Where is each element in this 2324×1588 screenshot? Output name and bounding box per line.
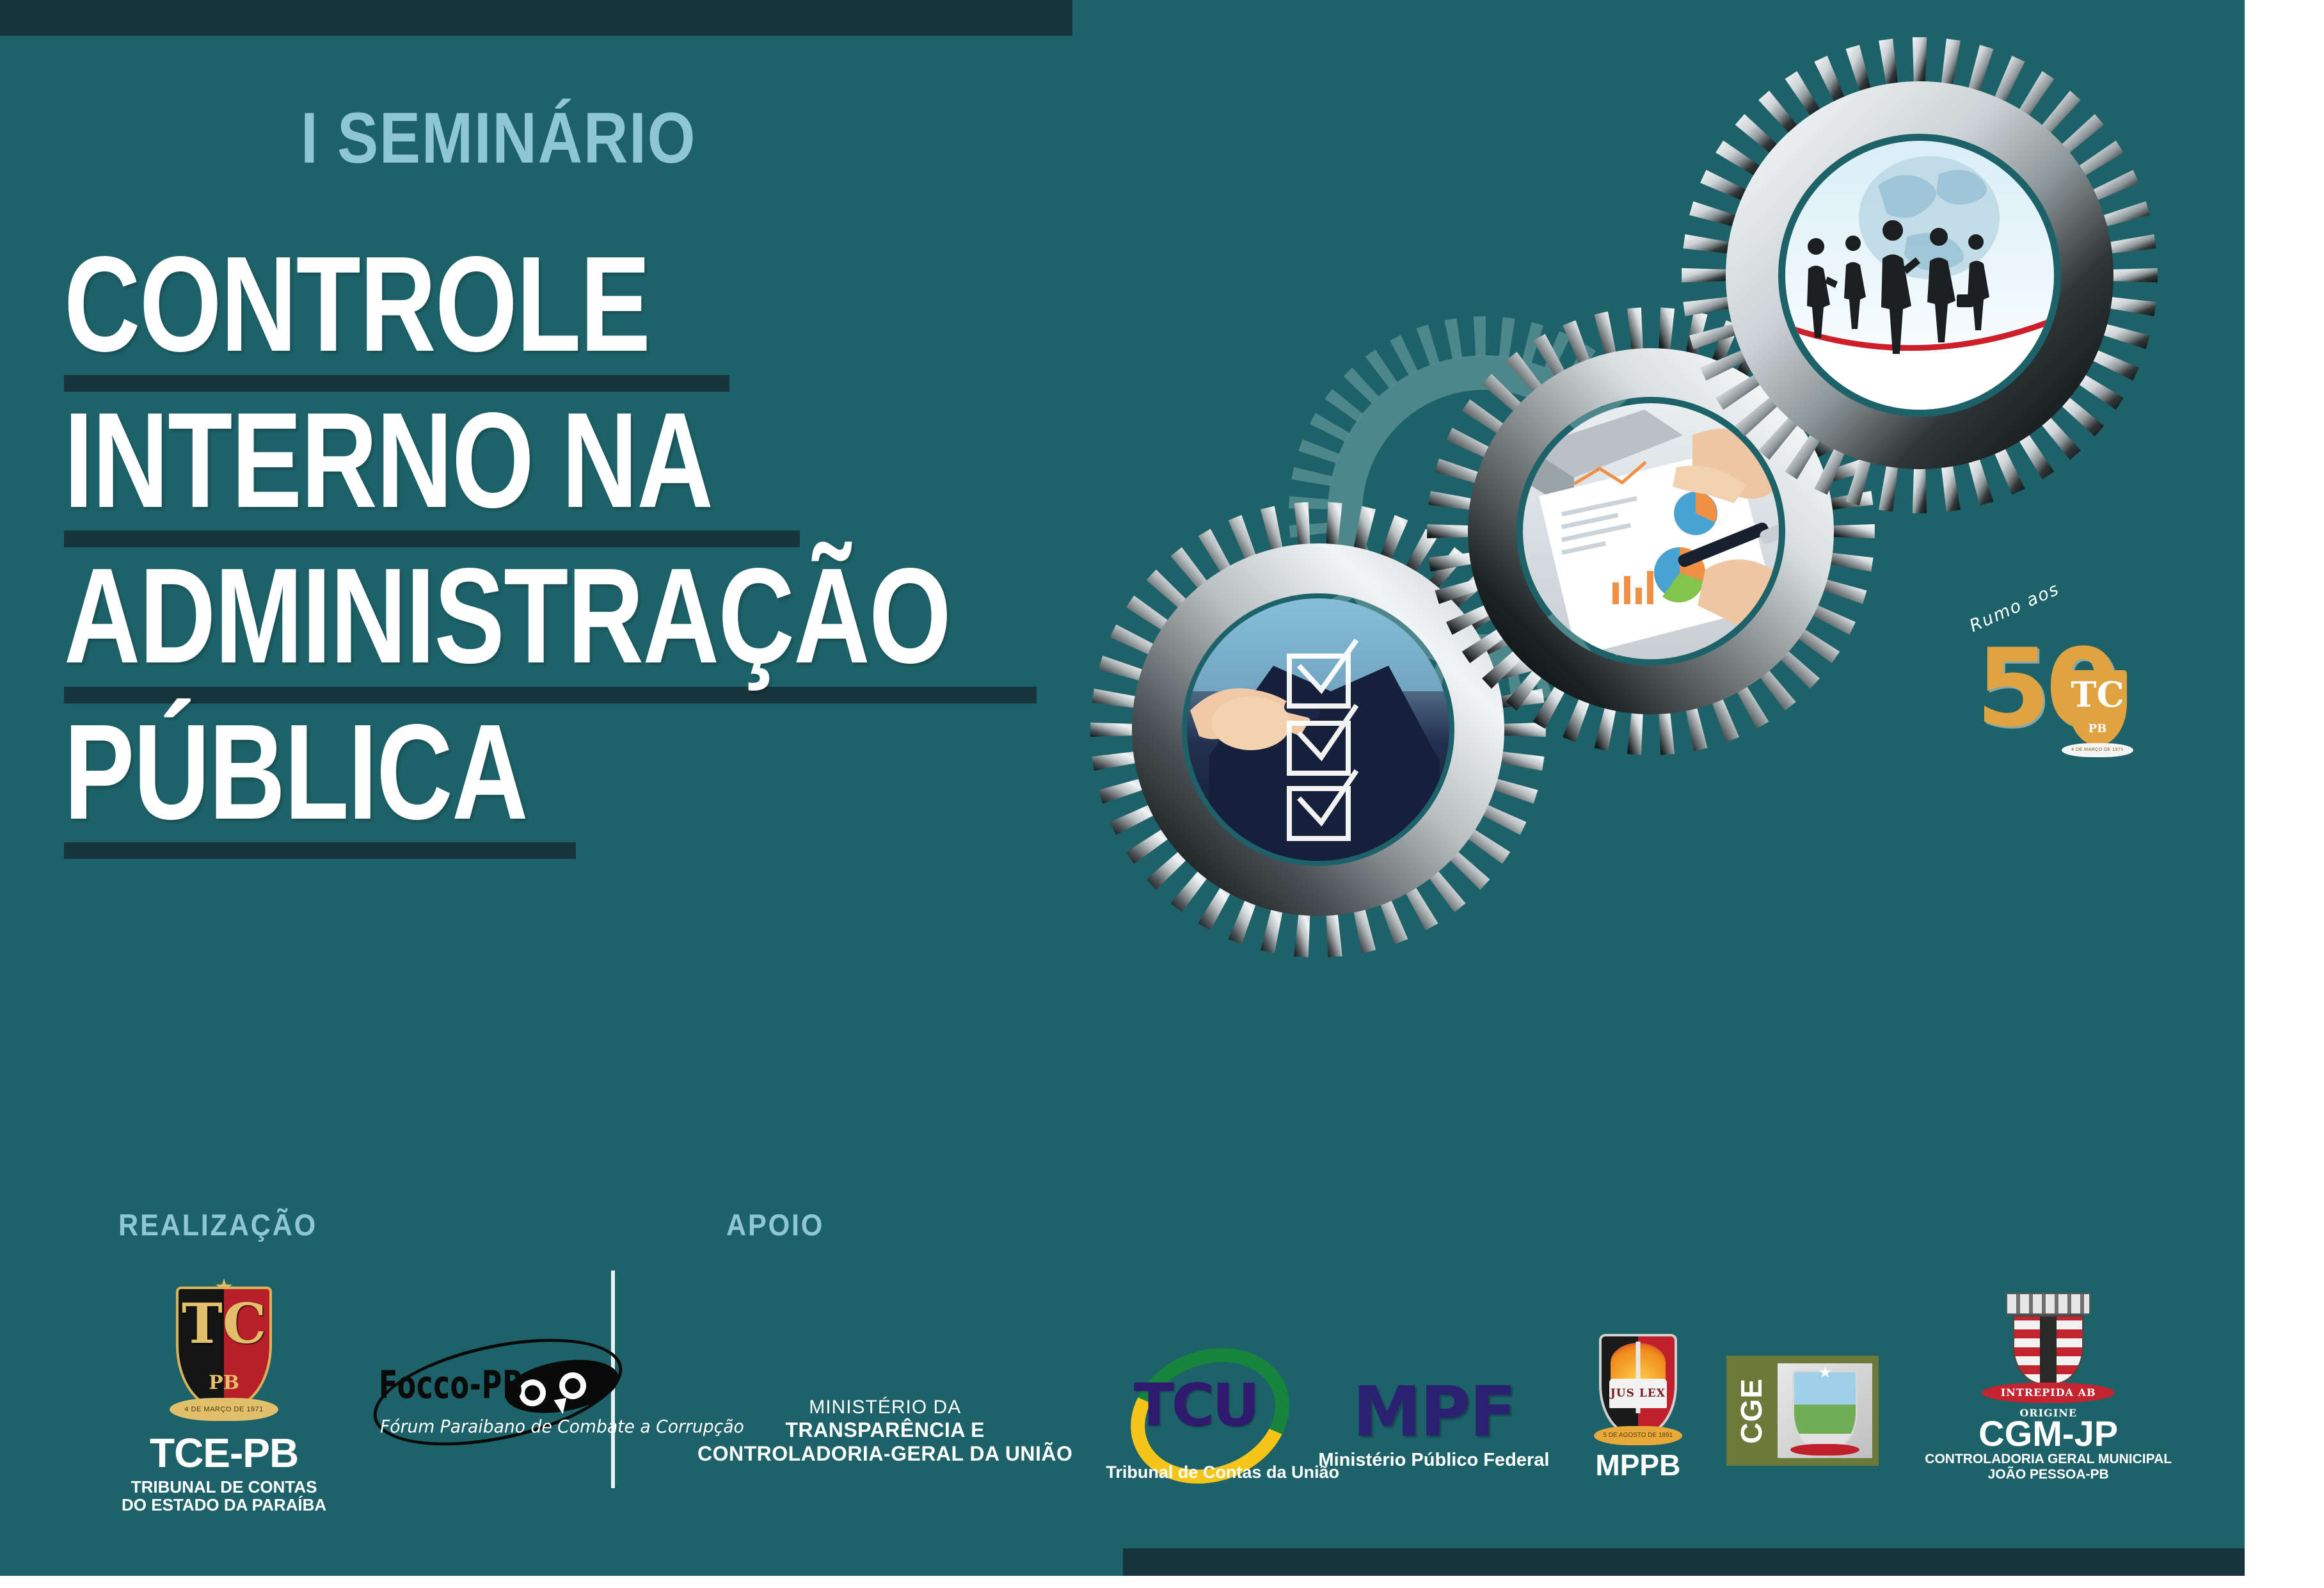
- tce-shield-pb: PB: [176, 1372, 272, 1394]
- anniversary-shield-pb: PB: [2068, 722, 2127, 735]
- logo-cgm-jp[interactable]: INTREPIDA AB ORIGINE CGM-JP CONTROLADORI…: [1925, 1293, 2172, 1482]
- logo-cgu[interactable]: MINISTÉRIO DA TRANSPARÊNCIA E CONTROLADO…: [697, 1397, 1072, 1466]
- poster-title: CONTROLE INTERNO NA ADMINISTRAÇÃO PÚBLIC…: [64, 250, 1190, 873]
- tce-acronym: TCE-PB: [122, 1431, 326, 1475]
- focco-tagline: Fórum Paraibano de Combate a Corrupção: [380, 1416, 744, 1437]
- realizacao-logos: ★ TC PB 4 DE MARÇO DE 1971 TCE-PB TRIBUN…: [122, 1287, 621, 1514]
- cgu-line2: TRANSPARÊNCIA E: [785, 1418, 985, 1442]
- logo-mpf[interactable]: MPF Ministério Público Federal: [1318, 1378, 1549, 1471]
- tce-shield-ribbon: 4 DE MARÇO DE 1971: [170, 1398, 278, 1421]
- logo-cge[interactable]: CGE ★: [1726, 1356, 1879, 1466]
- mppb-ribbon: 5 DE AGOSTO DE 1891: [1594, 1426, 1682, 1445]
- title-line-2: INTERNO NA: [64, 406, 943, 515]
- tce-shield-mono: TC: [176, 1302, 272, 1347]
- logo-mppb[interactable]: JUS LEX 5 DE AGOSTO DE 1891 MPPB: [1595, 1334, 1680, 1482]
- cge-star-icon: ★: [1819, 1363, 1833, 1382]
- apoio-label: APOIO: [726, 1207, 824, 1242]
- cgu-line3: CONTROLADORIA-GERAL DA UNIÃO: [697, 1442, 1072, 1466]
- title-line-4: PÚBLICA: [64, 718, 943, 826]
- focco-acronym: Focco-PB: [379, 1363, 524, 1408]
- cgm-shield-icon: [2012, 1315, 2084, 1385]
- cgm-line1: CONTROLADORIA GERAL MUNICIPAL: [1925, 1452, 2172, 1467]
- tcu-caption: Tribunal de Contas da União: [1106, 1463, 1285, 1482]
- cgm-crown-icon: [2006, 1293, 2090, 1315]
- mppb-motto: JUS LEX: [1609, 1379, 1667, 1408]
- anniversary-shield-icon: TC PB 4 DE MARÇO DE 1971: [2068, 670, 2127, 746]
- mppb-acronym: MPPB: [1595, 1448, 1680, 1482]
- cge-logo-icon: CGE ★: [1726, 1356, 1879, 1466]
- mpf-caption: Ministério Público Federal: [1318, 1450, 1549, 1471]
- cge-plate-icon: ★: [1778, 1363, 1872, 1458]
- poster-root: I SEMINÁRIO CONTROLE INTERNO NA ADMINIST…: [0, 0, 2324, 1588]
- realizacao-label: REALIZAÇÃO: [118, 1207, 317, 1242]
- logo-tce-pb[interactable]: ★ TC PB 4 DE MARÇO DE 1971 TCE-PB TRIBUN…: [122, 1287, 326, 1514]
- tce-shield-icon: ★ TC PB 4 DE MARÇO DE 1971: [176, 1287, 272, 1409]
- anniversary-shield-ribbon: 4 DE MARÇO DE 1971: [2062, 743, 2133, 757]
- focco-logo-icon: Focco-PB Fórum Paraibano de Combate a Co…: [371, 1333, 621, 1442]
- logo-tcu[interactable]: TCU Tribunal de Contas da União: [1118, 1348, 1272, 1482]
- title-line-3: ADMINISTRAÇÃO: [64, 561, 943, 670]
- tcu-logo-icon: TCU Tribunal de Contas da União: [1118, 1348, 1272, 1482]
- tce-line2: DO ESTADO DA PARAÍBA: [122, 1496, 326, 1514]
- cge-crest-ribbon: [1790, 1444, 1859, 1456]
- anniversary-shield-mono: TC: [2068, 680, 2127, 709]
- anniversary-emblem: Rumo aos 50 TC PB 4 DE MARÇO DE 1971: [1958, 611, 2150, 771]
- cgm-line2: JOÃO PESSOA-PB: [1925, 1467, 2172, 1482]
- mpf-acronym: MPF: [1353, 1378, 1515, 1447]
- cgm-crest-icon: INTREPIDA AB ORIGINE: [1978, 1293, 2119, 1416]
- bottom-accent-bar: [1123, 1548, 2245, 1576]
- title-line-1: CONTROLE: [64, 250, 943, 358]
- logo-focco-pb[interactable]: Focco-PB Fórum Paraibano de Combate a Co…: [371, 1333, 621, 1442]
- cge-acronym: CGE: [1734, 1378, 1769, 1444]
- tcu-acronym: TCU: [1118, 1371, 1272, 1440]
- cgm-motto: INTREPIDA AB ORIGINE: [1982, 1383, 2115, 1403]
- tce-line1: TRIBUNAL DE CONTAS: [122, 1478, 326, 1496]
- top-accent-bar: [0, 0, 1072, 36]
- apoio-logos: MINISTÉRIO DA TRANSPARÊNCIA E CONTROLADO…: [697, 1293, 2172, 1482]
- cgu-line1: MINISTÉRIO DA: [809, 1397, 961, 1418]
- kicker-text: I SEMINÁRIO: [301, 102, 696, 174]
- mppb-shield-icon: JUS LEX 5 DE AGOSTO DE 1891: [1599, 1334, 1677, 1436]
